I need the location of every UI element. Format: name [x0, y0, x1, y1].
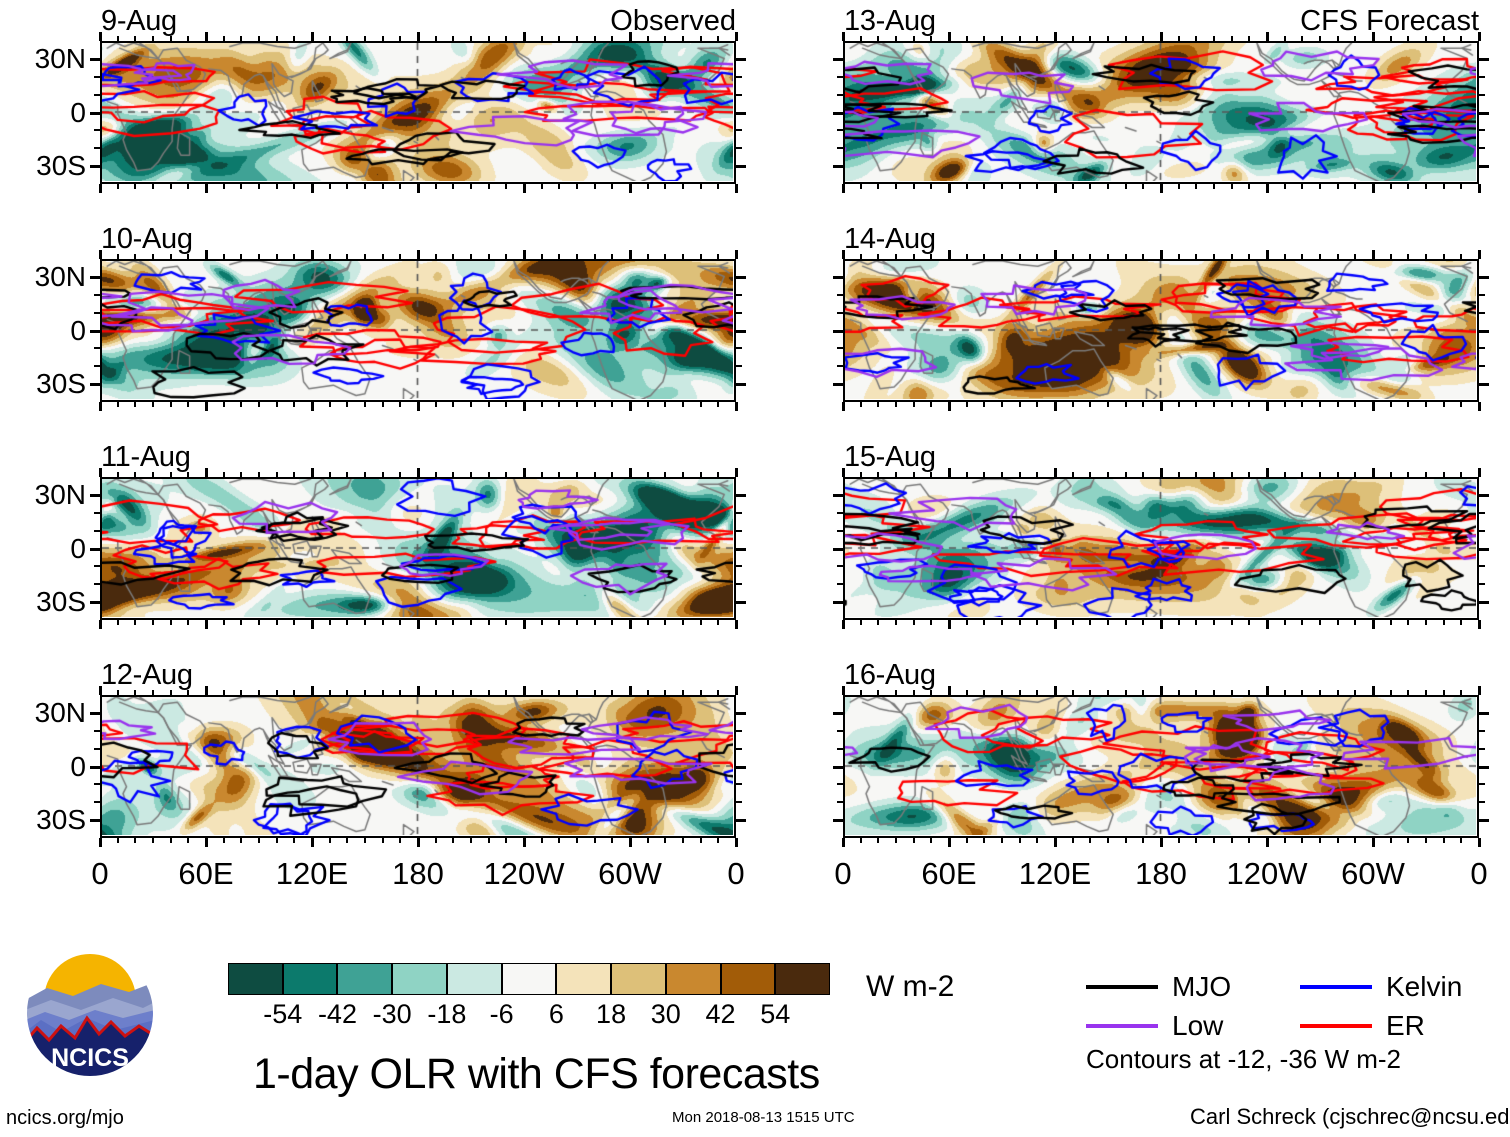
x-minor-tick	[1231, 838, 1233, 843]
x-minor-tick	[435, 402, 437, 407]
x-minor-tick	[117, 402, 119, 407]
x-minor-tick	[966, 402, 968, 407]
x-minor-tick	[1460, 254, 1462, 259]
x-minor-tick	[1425, 36, 1427, 41]
y-minor-tick	[736, 294, 742, 296]
x-minor-tick	[717, 472, 719, 477]
x-minor-tick	[877, 402, 879, 407]
x-minor-tick	[170, 838, 172, 843]
x-major-tick	[205, 838, 208, 847]
x-minor-tick	[611, 184, 613, 189]
x-major-tick	[1266, 250, 1269, 259]
y-minor-tick	[1479, 801, 1485, 803]
colorbar-swatch	[283, 963, 338, 995]
x-minor-tick	[134, 472, 136, 477]
x-major-tick	[417, 686, 420, 695]
y-minor-tick	[1479, 730, 1485, 732]
colorbar-swatch	[775, 963, 830, 995]
x-minor-tick	[1019, 620, 1021, 625]
x-major-tick	[1160, 620, 1163, 629]
x-minor-tick	[1390, 402, 1392, 407]
panel-date-label: 16-Aug	[844, 661, 936, 690]
x-minor-tick	[488, 838, 490, 843]
legend-label-mjo: MJO	[1172, 973, 1231, 1001]
x-minor-tick	[1178, 838, 1180, 843]
x-minor-tick	[1019, 472, 1021, 477]
x-minor-tick	[1301, 184, 1303, 189]
x-minor-tick	[1125, 402, 1127, 407]
x-minor-tick	[1407, 620, 1409, 625]
x-major-tick	[311, 184, 314, 193]
y-minor-tick	[736, 347, 742, 349]
y-minor-tick	[736, 312, 742, 314]
x-minor-tick	[1301, 402, 1303, 407]
x-minor-tick	[1319, 620, 1321, 625]
x-minor-tick	[594, 838, 596, 843]
x-minor-tick	[1301, 36, 1303, 41]
x-axis-tick-label: 120W	[1207, 858, 1327, 889]
x-minor-tick	[1178, 184, 1180, 189]
x-axis-tick-label: 60E	[889, 858, 1009, 889]
x-axis-tick-label: 120W	[464, 858, 584, 889]
x-minor-tick	[1036, 254, 1038, 259]
x-minor-tick	[1443, 254, 1445, 259]
colorbar-swatch	[502, 963, 557, 995]
y-major-tick	[833, 330, 843, 333]
x-minor-tick	[1390, 838, 1392, 843]
y-axis-tick-label: 0	[0, 753, 86, 781]
x-major-tick	[99, 402, 102, 411]
x-minor-tick	[647, 36, 649, 41]
x-minor-tick	[860, 838, 862, 843]
x-minor-tick	[1443, 184, 1445, 189]
x-major-tick	[1160, 838, 1163, 847]
y-major-tick	[1479, 494, 1489, 497]
x-minor-tick	[276, 184, 278, 189]
y-minor-tick	[94, 347, 100, 349]
x-major-tick	[99, 838, 102, 847]
x-minor-tick	[541, 690, 543, 695]
x-major-tick	[1478, 838, 1481, 847]
x-minor-tick	[682, 36, 684, 41]
colorbar-tick-label: 54	[735, 1001, 815, 1028]
x-minor-tick	[930, 184, 932, 189]
x-minor-tick	[700, 838, 702, 843]
x-minor-tick	[664, 254, 666, 259]
x-minor-tick	[1319, 254, 1321, 259]
x-minor-tick	[913, 690, 915, 695]
x-minor-tick	[594, 402, 596, 407]
x-minor-tick	[576, 36, 578, 41]
x-minor-tick	[700, 184, 702, 189]
x-minor-tick	[913, 36, 915, 41]
x-minor-tick	[983, 402, 985, 407]
footer-timestamp: Mon 2018-08-13 1515 UTC	[672, 1110, 855, 1125]
x-minor-tick	[1142, 36, 1144, 41]
y-minor-tick	[837, 512, 843, 514]
x-minor-tick	[895, 184, 897, 189]
x-minor-tick	[877, 620, 879, 625]
x-minor-tick	[364, 254, 366, 259]
y-minor-tick	[1479, 783, 1485, 785]
x-minor-tick	[664, 690, 666, 695]
x-minor-tick	[1213, 690, 1215, 695]
x-major-tick	[1054, 184, 1057, 193]
x-minor-tick	[1089, 402, 1091, 407]
map-10-aug[interactable]	[100, 259, 736, 402]
x-minor-tick	[1231, 402, 1233, 407]
x-minor-tick	[647, 690, 649, 695]
x-minor-tick	[399, 36, 401, 41]
x-minor-tick	[1107, 690, 1109, 695]
y-axis-tick-label: 30S	[0, 588, 86, 616]
x-minor-tick	[1301, 620, 1303, 625]
x-minor-tick	[258, 838, 260, 843]
map-12-aug[interactable]	[100, 695, 736, 838]
x-minor-tick	[1337, 254, 1339, 259]
x-major-tick	[417, 32, 420, 41]
x-minor-tick	[152, 690, 154, 695]
x-minor-tick	[1284, 402, 1286, 407]
x-axis-tick-label: 120E	[995, 858, 1115, 889]
x-minor-tick	[117, 36, 119, 41]
y-minor-tick	[736, 147, 742, 149]
x-major-tick	[1054, 468, 1057, 477]
x-minor-tick	[382, 402, 384, 407]
x-minor-tick	[258, 472, 260, 477]
y-minor-tick	[1479, 583, 1485, 585]
y-major-tick	[736, 548, 746, 551]
x-minor-tick	[505, 184, 507, 189]
x-minor-tick	[877, 472, 879, 477]
x-minor-tick	[1354, 402, 1356, 407]
x-minor-tick	[1337, 402, 1339, 407]
x-major-tick	[205, 184, 208, 193]
x-minor-tick	[1407, 472, 1409, 477]
map-15-aug[interactable]	[843, 477, 1479, 620]
x-minor-tick	[329, 254, 331, 259]
x-minor-tick	[1425, 402, 1427, 407]
y-minor-tick	[94, 530, 100, 532]
x-minor-tick	[682, 472, 684, 477]
y-major-tick	[90, 58, 100, 61]
x-minor-tick	[877, 690, 879, 695]
x-minor-tick	[576, 620, 578, 625]
x-axis-tick-label: 0	[783, 858, 903, 889]
x-minor-tick	[1072, 838, 1074, 843]
x-minor-tick	[576, 690, 578, 695]
y-minor-tick	[837, 147, 843, 149]
x-minor-tick	[664, 472, 666, 477]
x-axis-tick-label: 60W	[1313, 858, 1433, 889]
x-minor-tick	[664, 402, 666, 407]
x-minor-tick	[346, 184, 348, 189]
x-minor-tick	[258, 36, 260, 41]
y-major-tick	[90, 112, 100, 115]
x-minor-tick	[700, 690, 702, 695]
x-minor-tick	[930, 402, 932, 407]
x-minor-tick	[717, 620, 719, 625]
x-minor-tick	[329, 402, 331, 407]
ncics-logo[interactable]: NCICS	[25, 948, 155, 1078]
x-minor-tick	[930, 690, 932, 695]
y-major-tick	[833, 276, 843, 279]
colorbar-swatch	[392, 963, 447, 995]
y-minor-tick	[94, 783, 100, 785]
x-minor-tick	[258, 184, 260, 189]
x-major-tick	[1054, 32, 1057, 41]
x-major-tick	[735, 620, 738, 629]
x-minor-tick	[1089, 36, 1091, 41]
x-major-tick	[311, 686, 314, 695]
x-minor-tick	[966, 36, 968, 41]
x-minor-tick	[1284, 690, 1286, 695]
x-major-tick	[1478, 468, 1481, 477]
x-major-tick	[948, 620, 951, 629]
y-major-tick	[736, 766, 746, 769]
x-minor-tick	[1072, 402, 1074, 407]
x-minor-tick	[1036, 402, 1038, 407]
x-minor-tick	[895, 402, 897, 407]
x-minor-tick	[1319, 690, 1321, 695]
x-major-tick	[629, 184, 632, 193]
x-minor-tick	[1284, 472, 1286, 477]
x-minor-tick	[1319, 402, 1321, 407]
x-minor-tick	[576, 254, 578, 259]
x-minor-tick	[1231, 620, 1233, 625]
x-minor-tick	[346, 472, 348, 477]
x-minor-tick	[134, 690, 136, 695]
x-minor-tick	[1284, 254, 1286, 259]
x-minor-tick	[611, 254, 613, 259]
x-minor-tick	[1001, 402, 1003, 407]
x-major-tick	[1160, 468, 1163, 477]
x-minor-tick	[488, 402, 490, 407]
x-minor-tick	[1460, 690, 1462, 695]
x-minor-tick	[611, 690, 613, 695]
x-minor-tick	[558, 36, 560, 41]
x-major-tick	[948, 468, 951, 477]
colorbar-swatch	[666, 963, 721, 995]
x-minor-tick	[1443, 620, 1445, 625]
olr-anomaly-field	[845, 479, 1476, 617]
colorbar-units-label: W m-2	[866, 972, 954, 1002]
x-minor-tick	[1213, 402, 1215, 407]
x-minor-tick	[1213, 472, 1215, 477]
y-major-tick	[90, 819, 100, 822]
x-minor-tick	[1089, 184, 1091, 189]
x-minor-tick	[1460, 620, 1462, 625]
x-minor-tick	[240, 36, 242, 41]
x-minor-tick	[1425, 472, 1427, 477]
y-minor-tick	[1479, 565, 1485, 567]
x-minor-tick	[1089, 690, 1091, 695]
x-minor-tick	[470, 36, 472, 41]
y-major-tick	[1479, 601, 1489, 604]
x-minor-tick	[1125, 838, 1127, 843]
x-major-tick	[1054, 250, 1057, 259]
x-minor-tick	[594, 472, 596, 477]
x-minor-tick	[983, 254, 985, 259]
x-minor-tick	[682, 620, 684, 625]
x-minor-tick	[930, 838, 932, 843]
x-major-tick	[205, 620, 208, 629]
x-major-tick	[205, 468, 208, 477]
x-minor-tick	[717, 254, 719, 259]
x-axis-tick-label: 180	[358, 858, 478, 889]
x-minor-tick	[1213, 838, 1215, 843]
x-major-tick	[629, 32, 632, 41]
x-minor-tick	[1337, 472, 1339, 477]
x-minor-tick	[1107, 838, 1109, 843]
map-11-aug[interactable]	[100, 477, 736, 620]
footer-site-link[interactable]: ncics.org/mjo	[6, 1108, 124, 1128]
y-axis-tick-label: 30S	[0, 370, 86, 398]
x-minor-tick	[930, 472, 932, 477]
x-minor-tick	[258, 402, 260, 407]
y-minor-tick	[1479, 512, 1485, 514]
x-minor-tick	[470, 402, 472, 407]
x-major-tick	[1372, 402, 1375, 411]
x-axis-tick-label: 0	[1419, 858, 1510, 889]
x-major-tick	[1372, 620, 1375, 629]
map-16-aug[interactable]	[843, 695, 1479, 838]
x-minor-tick	[399, 620, 401, 625]
y-major-tick	[736, 276, 746, 279]
x-minor-tick	[170, 36, 172, 41]
y-major-tick	[1479, 548, 1489, 551]
x-minor-tick	[276, 838, 278, 843]
x-minor-tick	[505, 620, 507, 625]
y-major-tick	[90, 548, 100, 551]
x-major-tick	[842, 838, 845, 847]
x-minor-tick	[717, 838, 719, 843]
x-minor-tick	[1107, 620, 1109, 625]
x-minor-tick	[346, 690, 348, 695]
y-major-tick	[90, 601, 100, 604]
x-minor-tick	[435, 472, 437, 477]
x-minor-tick	[276, 254, 278, 259]
x-minor-tick	[329, 620, 331, 625]
x-major-tick	[99, 250, 102, 259]
x-minor-tick	[1107, 184, 1109, 189]
y-major-tick	[90, 494, 100, 497]
x-minor-tick	[895, 838, 897, 843]
x-minor-tick	[1407, 690, 1409, 695]
x-minor-tick	[1407, 402, 1409, 407]
x-minor-tick	[1142, 838, 1144, 843]
legend-label-er: ER	[1386, 1012, 1425, 1040]
x-minor-tick	[576, 184, 578, 189]
x-minor-tick	[558, 254, 560, 259]
x-minor-tick	[1284, 620, 1286, 625]
map-9-aug[interactable]	[100, 41, 736, 184]
y-minor-tick	[94, 801, 100, 803]
x-minor-tick	[117, 620, 119, 625]
y-minor-tick	[837, 783, 843, 785]
x-minor-tick	[117, 184, 119, 189]
x-minor-tick	[152, 838, 154, 843]
x-minor-tick	[134, 254, 136, 259]
x-minor-tick	[223, 36, 225, 41]
x-minor-tick	[983, 184, 985, 189]
x-major-tick	[99, 32, 102, 41]
x-minor-tick	[223, 620, 225, 625]
x-minor-tick	[1337, 838, 1339, 843]
x-minor-tick	[1407, 254, 1409, 259]
x-minor-tick	[877, 184, 879, 189]
x-minor-tick	[488, 254, 490, 259]
x-major-tick	[417, 250, 420, 259]
x-minor-tick	[452, 184, 454, 189]
y-axis-tick-label: 30N	[0, 699, 86, 727]
x-axis-tick-label: 120E	[252, 858, 372, 889]
x-minor-tick	[1425, 184, 1427, 189]
x-minor-tick	[877, 254, 879, 259]
map-13-aug[interactable]	[843, 41, 1479, 184]
x-minor-tick	[717, 36, 719, 41]
x-minor-tick	[1142, 690, 1144, 695]
x-minor-tick	[382, 36, 384, 41]
x-minor-tick	[1125, 472, 1127, 477]
x-minor-tick	[1248, 838, 1250, 843]
y-major-tick	[90, 766, 100, 769]
panel-date-label: 12-Aug	[101, 661, 193, 690]
x-minor-tick	[1443, 36, 1445, 41]
x-minor-tick	[452, 402, 454, 407]
y-minor-tick	[1479, 748, 1485, 750]
x-minor-tick	[1178, 620, 1180, 625]
x-major-tick	[311, 250, 314, 259]
x-minor-tick	[382, 838, 384, 843]
x-minor-tick	[913, 620, 915, 625]
x-minor-tick	[1248, 254, 1250, 259]
x-minor-tick	[152, 184, 154, 189]
map-14-aug[interactable]	[843, 259, 1479, 402]
x-minor-tick	[364, 472, 366, 477]
x-minor-tick	[1072, 254, 1074, 259]
x-minor-tick	[1213, 36, 1215, 41]
x-minor-tick	[240, 402, 242, 407]
y-minor-tick	[736, 565, 742, 567]
olr-anomaly-field	[102, 479, 733, 617]
x-minor-tick	[505, 36, 507, 41]
x-minor-tick	[1001, 36, 1003, 41]
x-major-tick	[948, 250, 951, 259]
x-minor-tick	[293, 36, 295, 41]
x-minor-tick	[258, 620, 260, 625]
x-minor-tick	[647, 402, 649, 407]
y-minor-tick	[837, 583, 843, 585]
x-minor-tick	[860, 472, 862, 477]
x-major-tick	[523, 250, 526, 259]
x-minor-tick	[647, 254, 649, 259]
x-minor-tick	[470, 254, 472, 259]
y-minor-tick	[736, 783, 742, 785]
x-major-tick	[1266, 686, 1269, 695]
x-minor-tick	[329, 690, 331, 695]
x-minor-tick	[558, 620, 560, 625]
x-minor-tick	[187, 690, 189, 695]
y-minor-tick	[736, 94, 742, 96]
y-minor-tick	[736, 530, 742, 532]
colorbar-swatch	[447, 963, 502, 995]
x-minor-tick	[505, 690, 507, 695]
x-minor-tick	[966, 620, 968, 625]
x-minor-tick	[293, 838, 295, 843]
y-minor-tick	[837, 312, 843, 314]
x-minor-tick	[223, 402, 225, 407]
